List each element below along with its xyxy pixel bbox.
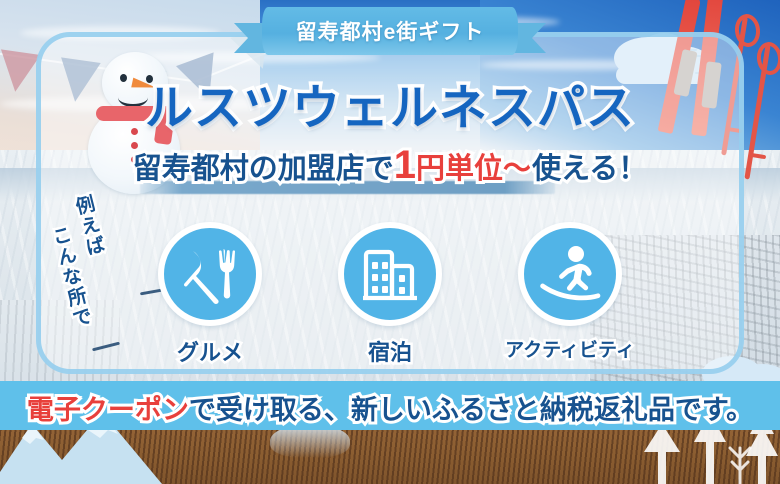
category-circle[interactable]	[518, 222, 622, 326]
bottom-banner-rest: で受け取る、新しいふるさと納税返礼品です。	[189, 395, 753, 425]
subtitle-part1: 留寿都村の加盟店で	[133, 153, 394, 185]
subtitle-unit: 円単位〜	[416, 153, 532, 185]
category-label: グルメ	[140, 335, 280, 367]
subtitle: 留寿都村の加盟店で1円単位〜使える！	[133, 143, 647, 188]
cutlery-icon	[179, 243, 241, 305]
category-circle[interactable]	[338, 222, 442, 326]
category-list: グルメ	[0, 222, 780, 367]
subtitle-number: 1	[394, 143, 416, 187]
bottom-banner-text: 電子クーポンで受け取る、新しいふるさと納税返礼品です。	[0, 388, 780, 427]
subtitle-part2: 使える！	[532, 153, 647, 185]
category-item-gourmet[interactable]: グルメ	[140, 222, 280, 367]
promo-banner: 留寿都村e街ギフト ルスツウェルネスパス 留寿都村の加盟店で1円単位〜使える！ …	[0, 0, 780, 484]
category-item-activity[interactable]: アクティビティ	[500, 222, 640, 367]
bottom-banner-highlight: 電子クーポン	[27, 395, 189, 425]
category-label: 宿泊	[320, 335, 460, 367]
snowboarder-icon	[538, 244, 602, 304]
ribbon-banner: 留寿都村e街ギフト	[240, 5, 540, 57]
buildings-icon	[361, 245, 419, 303]
subtitle-block: 留寿都村の加盟店で1円単位〜使える！	[0, 143, 780, 188]
category-item-lodging[interactable]: 宿泊	[320, 222, 460, 367]
page-title: ルスツウェルネスパス	[0, 68, 780, 138]
category-circle[interactable]	[158, 222, 262, 326]
ribbon-body: 留寿都村e街ギフト	[262, 7, 518, 55]
category-label: アクティビティ	[500, 335, 640, 362]
ribbon-label: 留寿都村e街ギフト	[296, 16, 485, 46]
